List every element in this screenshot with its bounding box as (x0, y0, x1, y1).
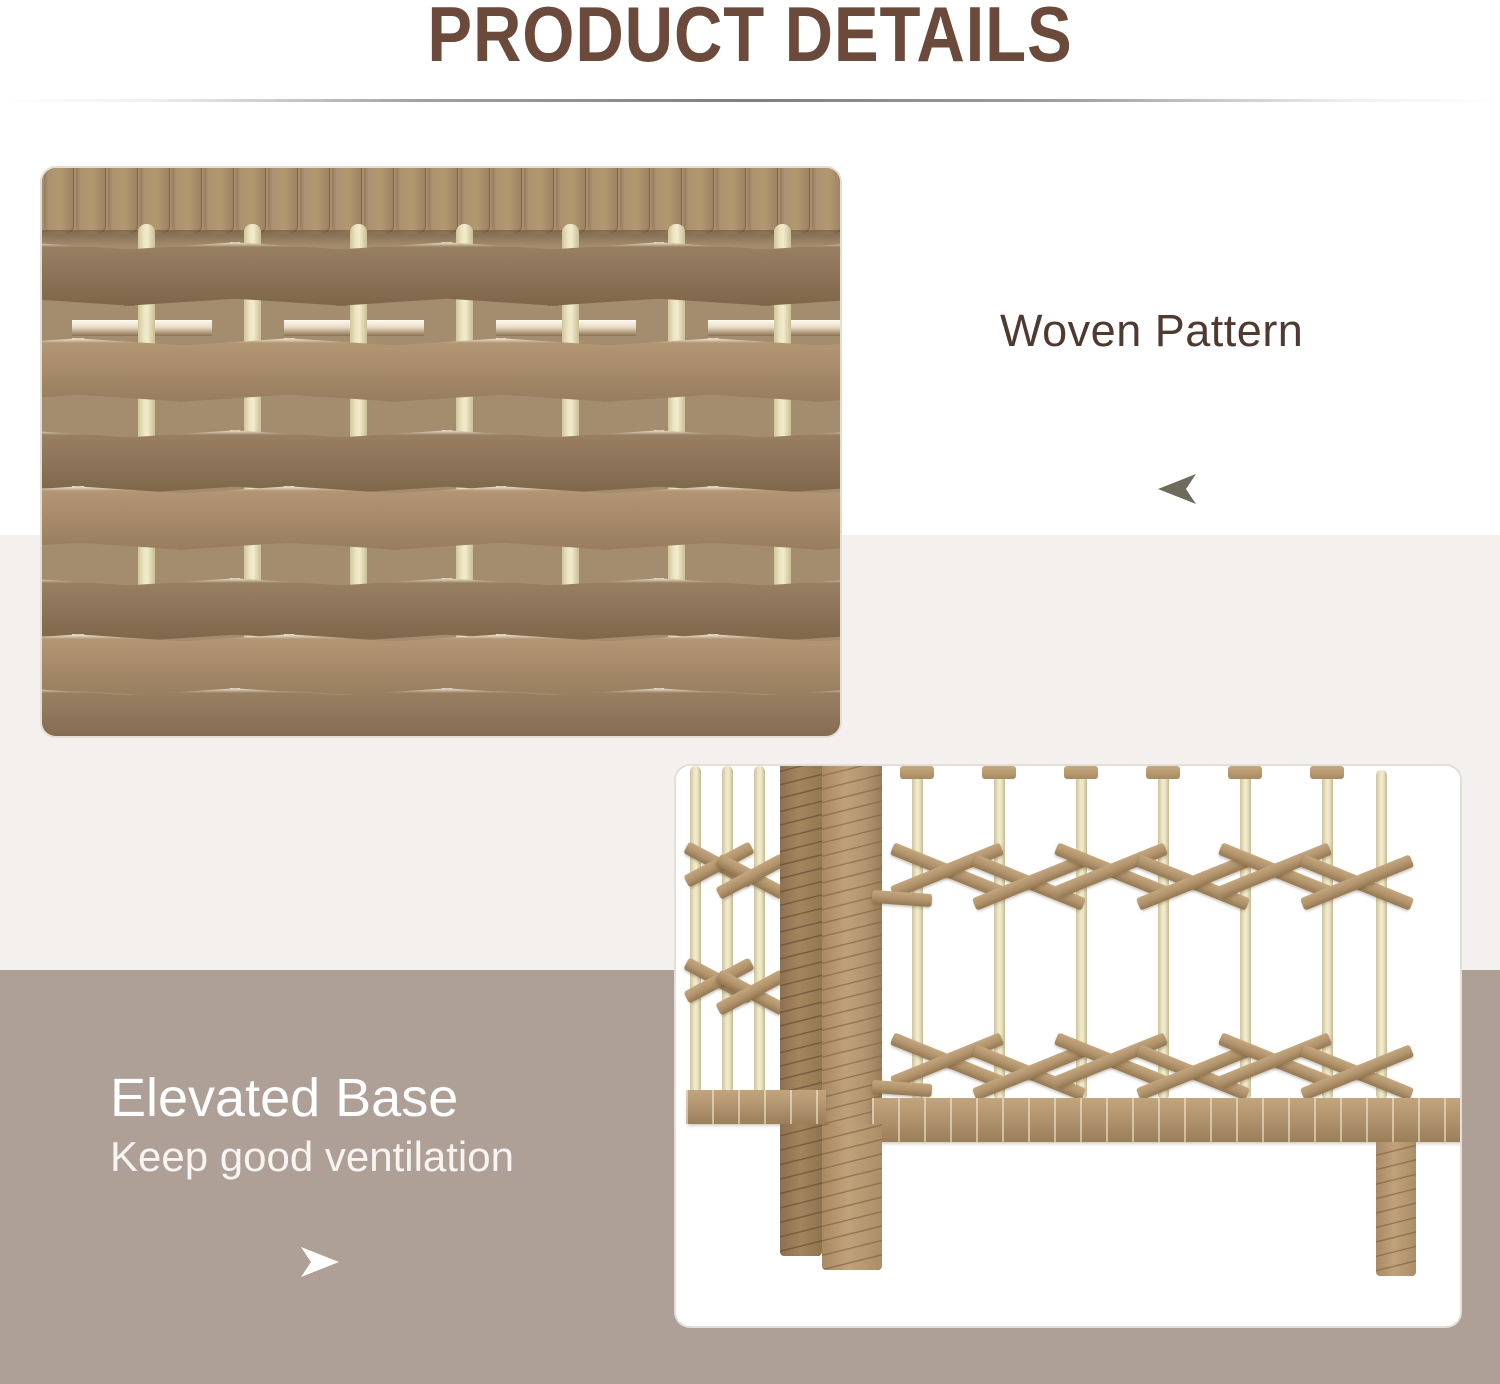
leg-right (1376, 1142, 1416, 1276)
elevated-base-title: Elevated Base (110, 1070, 630, 1127)
header: PRODUCT DETAILS (0, 0, 1500, 110)
page-title: PRODUCT DETAILS (105, 0, 1395, 76)
elevated-base-image (676, 766, 1460, 1326)
title-divider (0, 99, 1500, 102)
weave-row (42, 338, 840, 412)
elevated-base-caption: Elevated Base Keep good ventilation (110, 1070, 630, 1181)
woven-pattern-image (42, 168, 840, 736)
arrow-right-icon (295, 1245, 341, 1284)
apron-rail-front (872, 1098, 1460, 1142)
elevated-base-subtitle: Keep good ventilation (110, 1133, 630, 1181)
weave-row (42, 688, 840, 736)
woven-pattern-caption: Woven Pattern (1000, 305, 1303, 357)
weave-row (42, 486, 840, 560)
elevated-base-illustration (676, 766, 1460, 1326)
apron-rail-side (686, 1090, 826, 1124)
leg-rear (780, 1124, 822, 1256)
woven-pattern-illustration (42, 168, 840, 736)
arrow-left-icon (1156, 472, 1202, 511)
weave-cap-strip (42, 168, 840, 234)
leg-front (822, 1124, 882, 1270)
weave-row (42, 242, 840, 316)
